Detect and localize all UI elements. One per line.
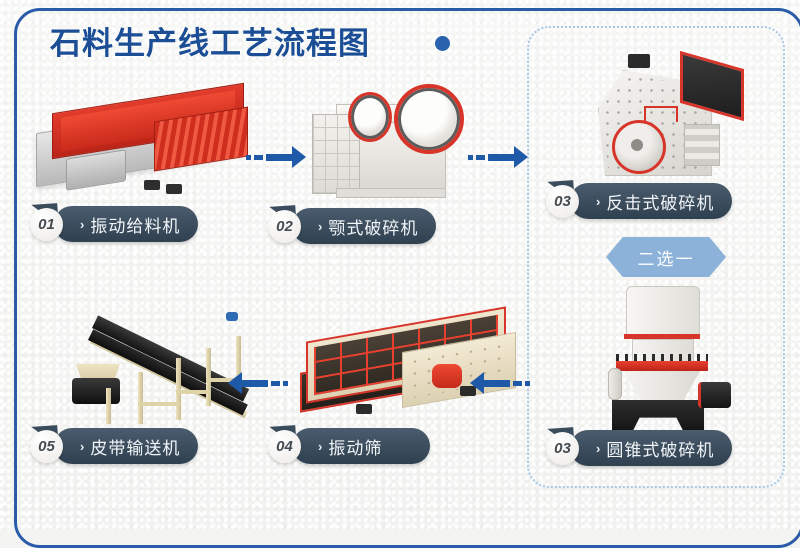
arrow-jaw-to-crusher-group	[468, 146, 528, 168]
vibrating-feeder-image	[26, 92, 256, 197]
conveyor-leg	[176, 358, 181, 420]
flow-diagram-page: 石料生产线工艺流程图	[0, 0, 800, 530]
arrow-shaft	[488, 154, 514, 161]
jaw-flywheel-front	[394, 84, 464, 154]
step-name-02: 颚式破碎机	[328, 214, 418, 239]
step-name-05: 皮带输送机	[90, 434, 180, 459]
chevron-right-icon: ›	[318, 439, 322, 454]
cone-crusher-image	[598, 282, 738, 432]
step-label-04[interactable]: 04 › 振动筛	[268, 428, 430, 464]
choose-one-badge: 二选一	[606, 237, 726, 277]
arrow-dash	[513, 381, 522, 386]
step-label-03-cone[interactable]: 03 › 圆锥式破碎机	[546, 430, 732, 466]
cone-hopper	[626, 286, 700, 336]
step-pill-02[interactable]: › 颚式破碎机	[292, 208, 436, 244]
arrow-dash	[271, 381, 280, 386]
title-dot-icon	[435, 36, 450, 51]
arrow-head-icon	[292, 146, 306, 168]
chevron-right-icon: ›	[596, 194, 600, 209]
step-number-02: 02	[268, 210, 301, 243]
feeder-foot	[144, 180, 160, 190]
arrow-head-icon	[470, 372, 484, 394]
step-number-03-impact: 03	[546, 185, 579, 218]
step-number-03-cone: 03	[546, 432, 579, 465]
step-label-03-impact[interactable]: 03 › 反击式破碎机	[546, 183, 732, 219]
impact-top-fitting	[628, 54, 650, 68]
arrow-shaft	[242, 380, 268, 387]
step-number-05: 05	[30, 430, 63, 463]
step-number-01: 01	[30, 208, 63, 241]
step-label-05[interactable]: 05 › 皮带输送机	[30, 428, 198, 464]
chevron-right-icon: ›	[318, 219, 322, 234]
impact-rotor-wheel	[612, 120, 666, 174]
conveyor-leg	[206, 348, 211, 406]
conveyor-head-pulley	[72, 378, 120, 404]
step-label-02[interactable]: 02 › 颚式破碎机	[268, 208, 436, 244]
arrow-dot	[468, 155, 473, 160]
cone-hydraulic-cylinder	[608, 368, 622, 400]
chevron-right-icon: ›	[80, 439, 84, 454]
step-pill-03-impact[interactable]: › 反击式破碎机	[570, 183, 732, 219]
conveyor-cross-brace	[138, 402, 180, 406]
impact-blow-bars	[684, 124, 720, 166]
arrow-dot	[283, 381, 288, 386]
step-name-01: 振动给料机	[90, 212, 180, 237]
arrow-crusher-group-to-screen	[470, 372, 530, 394]
step-label-01[interactable]: 01 › 振动给料机	[30, 206, 198, 242]
arrow-head-icon	[228, 372, 242, 394]
arrow-feeder-to-jaw	[246, 146, 306, 168]
cone-base-stand	[612, 400, 704, 432]
arrow-dot	[525, 381, 530, 386]
cone-red-band-lower	[616, 361, 708, 371]
arrow-screen-to-conveyor	[228, 372, 288, 394]
arrow-dash	[476, 155, 485, 160]
cone-drive-motor	[698, 382, 731, 408]
step-pill-03-cone[interactable]: › 圆锥式破碎机	[570, 430, 732, 466]
arrow-dash	[254, 155, 263, 160]
step-name-03-impact: 反击式破碎机	[606, 189, 714, 214]
step-number-04: 04	[268, 430, 301, 463]
vibrating-screen-image	[296, 312, 526, 422]
screen-exciter-drum	[432, 364, 462, 388]
arrow-dot	[246, 155, 251, 160]
belt-conveyor-image	[70, 306, 270, 426]
conveyor-cross-brace	[176, 390, 210, 394]
step-pill-04[interactable]: › 振动筛	[292, 428, 430, 464]
conveyor-drive-unit	[226, 312, 238, 321]
screen-foot	[356, 404, 372, 414]
jaw-crusher-image	[306, 70, 466, 202]
chevron-right-icon: ›	[80, 217, 84, 232]
chevron-right-icon: ›	[596, 441, 600, 456]
step-pill-05[interactable]: › 皮带输送机	[54, 428, 198, 464]
conveyor-leg	[138, 372, 143, 424]
impact-crusher-image	[588, 48, 738, 188]
step-name-03-cone: 圆锥式破碎机	[606, 436, 714, 461]
jaw-base-legs	[336, 188, 446, 198]
conveyor-leg	[106, 388, 111, 424]
feeder-foot	[166, 184, 182, 194]
arrow-shaft	[266, 154, 292, 161]
jaw-flywheel-rear	[348, 92, 392, 142]
step-pill-01[interactable]: › 振动给料机	[54, 206, 198, 242]
arrow-head-icon	[514, 146, 528, 168]
step-name-04: 振动筛	[328, 434, 382, 459]
page-title: 石料生产线工艺流程图	[50, 18, 370, 63]
impact-red-bracket	[644, 106, 678, 122]
arrow-shaft	[484, 380, 510, 387]
